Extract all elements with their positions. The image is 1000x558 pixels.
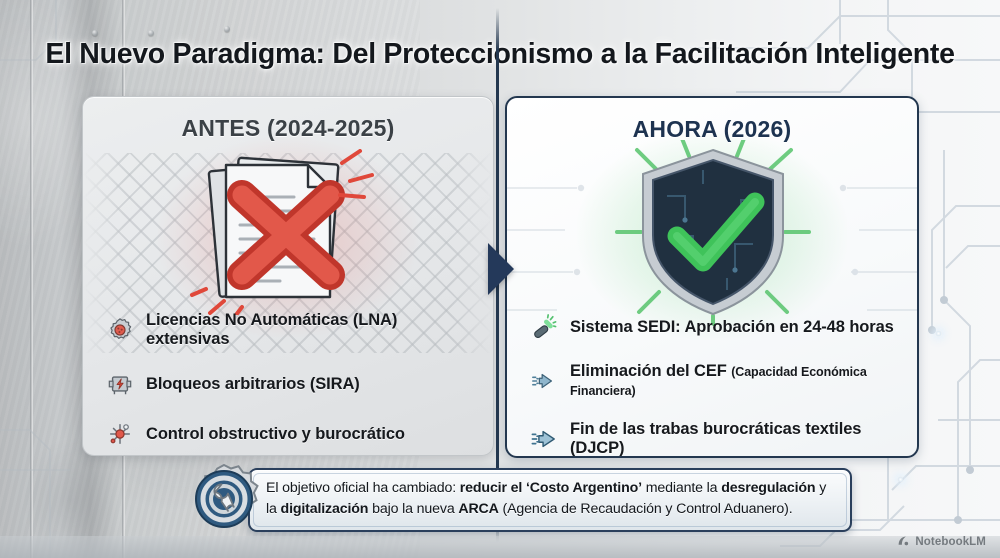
list-item[interactable]: Licencias No Automáticas (LNA) extensiva…	[105, 311, 485, 349]
after-bullet-list: Sistema SEDI: Aprobación en 24-48 horas …	[529, 312, 909, 458]
glow-dot	[897, 476, 904, 483]
list-item[interactable]: Control obstructivo y burocrático	[105, 419, 485, 449]
magic-wand-icon	[529, 312, 559, 342]
infographic-canvas: El Nuevo Paradigma: Del Proteccionismo a…	[0, 0, 1000, 558]
caption-box: El objetivo oficial ha cambiado: reducir…	[248, 468, 852, 532]
bottom-strip	[0, 536, 1000, 558]
notebooklm-watermark: NotebookLM	[897, 535, 986, 548]
watermark-label: NotebookLM	[915, 536, 986, 548]
gear-wrench-icon	[178, 462, 270, 536]
list-item-label: Licencias No Automáticas (LNA) extensiva…	[146, 311, 485, 349]
panel-after: AHORA (2026)	[505, 96, 919, 458]
list-item[interactable]: Fin de las trabas burocráticas textiles …	[529, 420, 909, 458]
wall-bolt	[148, 30, 154, 36]
panel-before: ANTES (2024-2025)	[82, 96, 494, 456]
caption-bar: El objetivo oficial ha cambiado: reducir…	[178, 462, 858, 536]
motion-arrow-icon	[529, 366, 559, 396]
list-item-label: Fin de las trabas burocráticas textiles …	[570, 420, 909, 458]
list-item[interactable]: Bloqueos arbitrarios (SIRA)	[105, 369, 485, 399]
notebooklm-logo-icon	[897, 535, 910, 548]
list-item[interactable]: Sistema SEDI: Aprobación en 24-48 horas	[529, 312, 909, 342]
list-item-label: Bloqueos arbitrarios (SIRA)	[146, 375, 360, 394]
caption-text: El objetivo oficial ha cambiado: reducir…	[266, 478, 836, 520]
page-title: El Nuevo Paradigma: Del Proteccionismo a…	[0, 38, 1000, 71]
gear-warning-icon	[105, 315, 135, 345]
arrow-right-triangle-icon	[488, 243, 514, 295]
list-item-label: Sistema SEDI: Aprobación en 24-48 horas	[570, 318, 894, 337]
panel-before-heading: ANTES (2024-2025)	[83, 115, 493, 142]
panel-after-heading: AHORA (2026)	[507, 116, 917, 143]
glow-dot	[935, 330, 942, 337]
electrical-block-icon	[105, 369, 135, 399]
list-item[interactable]: Eliminación del CEF (Capacidad Económica…	[529, 362, 909, 400]
wall-bolt	[224, 26, 230, 32]
before-bullet-list: Licencias No Automáticas (LNA) extensiva…	[105, 311, 485, 456]
circuit-node-icon	[105, 419, 135, 449]
motion-arrow-bold-icon	[529, 424, 559, 454]
documents-rejected-icon	[190, 149, 386, 315]
shield-check-icon	[615, 140, 811, 326]
list-item-label: Control obstructivo y burocrático	[146, 425, 405, 444]
list-item-label: Eliminación del CEF (Capacidad Económica…	[570, 362, 909, 400]
